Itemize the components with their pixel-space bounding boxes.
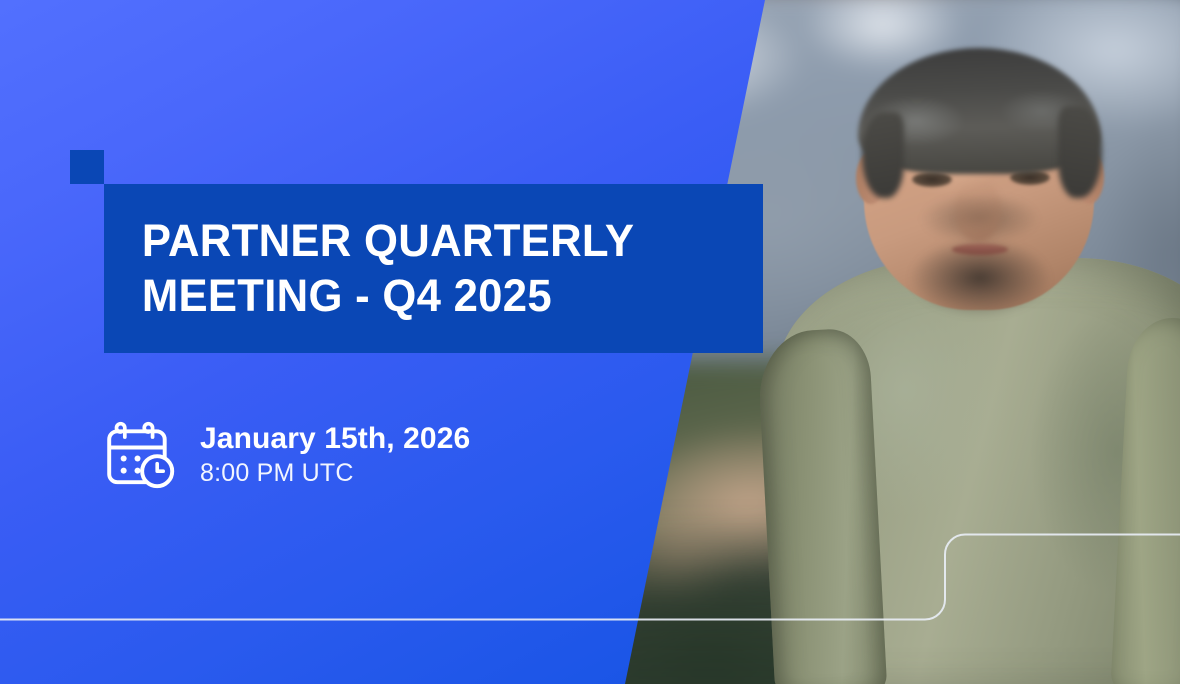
event-banner: PARTNER QUARTERLY MEETING - Q4 2025 Janu…	[0, 0, 1180, 684]
schedule-text: January 15th, 2026 8:00 PM UTC	[200, 420, 470, 490]
page-title-line-1: PARTNER QUARTERLY	[104, 214, 743, 269]
person-hair-side-left	[862, 112, 904, 198]
person-left-arm	[756, 327, 887, 684]
person-mouth	[952, 244, 1008, 255]
page-title-line-2: MEETING - Q4 2025	[104, 269, 743, 324]
person-eye-left	[912, 172, 952, 187]
person-nose	[955, 182, 1001, 242]
calendar-clock-icon	[104, 418, 178, 492]
person-hair-side-right	[1058, 106, 1102, 198]
event-schedule: January 15th, 2026 8:00 PM UTC	[104, 418, 470, 492]
title-band: PARTNER QUARTERLY MEETING - Q4 2025	[104, 184, 763, 353]
event-date: January 15th, 2026	[200, 420, 470, 457]
accent-square	[70, 150, 104, 184]
event-time: 8:00 PM UTC	[200, 457, 470, 490]
